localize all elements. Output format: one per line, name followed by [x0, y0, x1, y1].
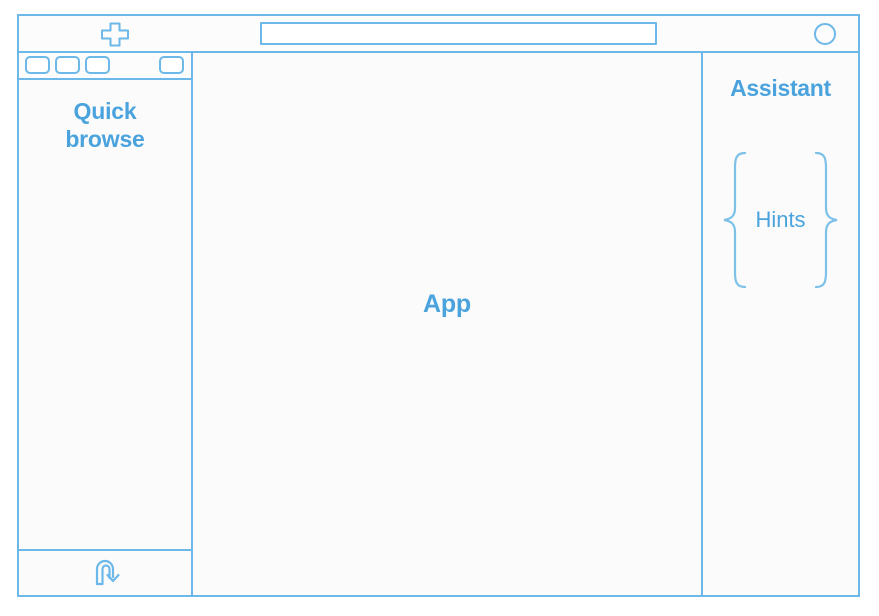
search-input[interactable] — [262, 24, 655, 43]
circle-avatar-icon[interactable] — [814, 23, 836, 45]
hints-block: Hints — [720, 150, 840, 290]
sidebar-content: Quick browse — [19, 80, 191, 549]
window-body: Quick browse App Assistant — [19, 53, 858, 595]
app-content-area: App — [193, 53, 703, 595]
sidebar-tool-3-button[interactable] — [85, 56, 110, 74]
top-bar — [19, 16, 858, 53]
quick-browse-title-line-2: browse — [19, 125, 191, 153]
sidebar-tool-1-button[interactable] — [25, 56, 50, 74]
sidebar-tool-2-button[interactable] — [55, 56, 80, 74]
sidebar-list-area — [19, 153, 191, 549]
quick-browse-title-line-1: Quick — [19, 97, 191, 125]
sidebar: Quick browse — [19, 53, 193, 595]
left-brace-icon — [720, 150, 750, 290]
assistant-title: Assistant — [730, 75, 831, 102]
plus-icon[interactable] — [97, 20, 133, 48]
app-label: App — [423, 290, 471, 319]
assistant-panel: Assistant Hints — [703, 53, 858, 595]
sidebar-toolbar — [19, 53, 191, 80]
sidebar-tool-4-button[interactable] — [159, 56, 184, 74]
u-turn-arrow-icon[interactable] — [88, 557, 122, 589]
browser-window: Quick browse App Assistant — [17, 14, 860, 597]
sidebar-footer — [19, 549, 191, 595]
hints-label: Hints — [750, 207, 810, 233]
search-field[interactable] — [260, 22, 657, 45]
right-brace-icon — [811, 150, 841, 290]
quick-browse-title: Quick browse — [19, 97, 191, 153]
